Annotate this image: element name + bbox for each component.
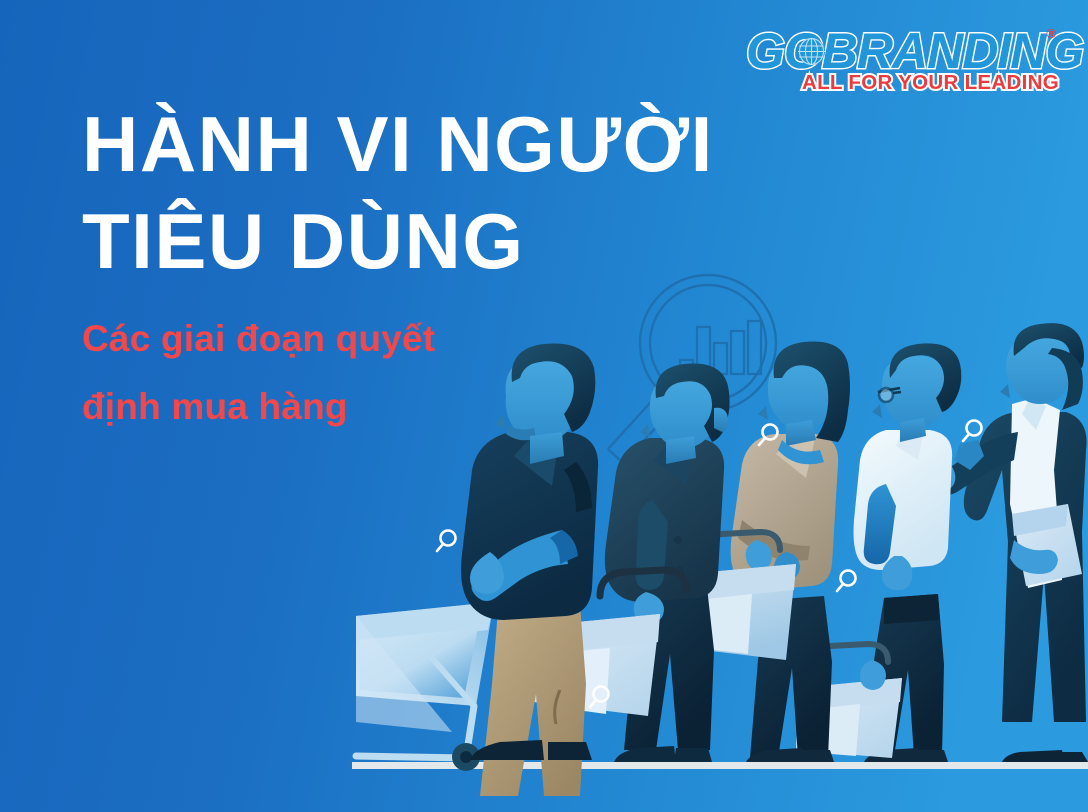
logo-tagline: ALL FOR YOUR LEADING — [802, 71, 1054, 95]
poster-canvas: HÀNH VI NGƯỜI TIÊU DÙNG Các giai đoạn qu… — [0, 0, 1088, 812]
headline-line-2: TIÊU DÙNG — [82, 193, 862, 290]
subtitle-line-2: định mua hàng — [82, 373, 552, 441]
subtitle-line-1: Các giai đoạn quyết — [82, 305, 552, 373]
page-title: HÀNH VI NGƯỜI TIÊU DÙNG — [82, 96, 862, 290]
globe-icon — [798, 38, 825, 65]
registered-mark: ® — [1046, 26, 1056, 41]
page-subtitle: Các giai đoạn quyết định mua hàng — [82, 305, 552, 441]
gobranding-logo[interactable]: GOBRANDING GOBRANDING ALL FOR YOUR LEADI… — [746, 24, 1054, 102]
headline-line-1: HÀNH VI NGƯỜI — [82, 96, 862, 193]
